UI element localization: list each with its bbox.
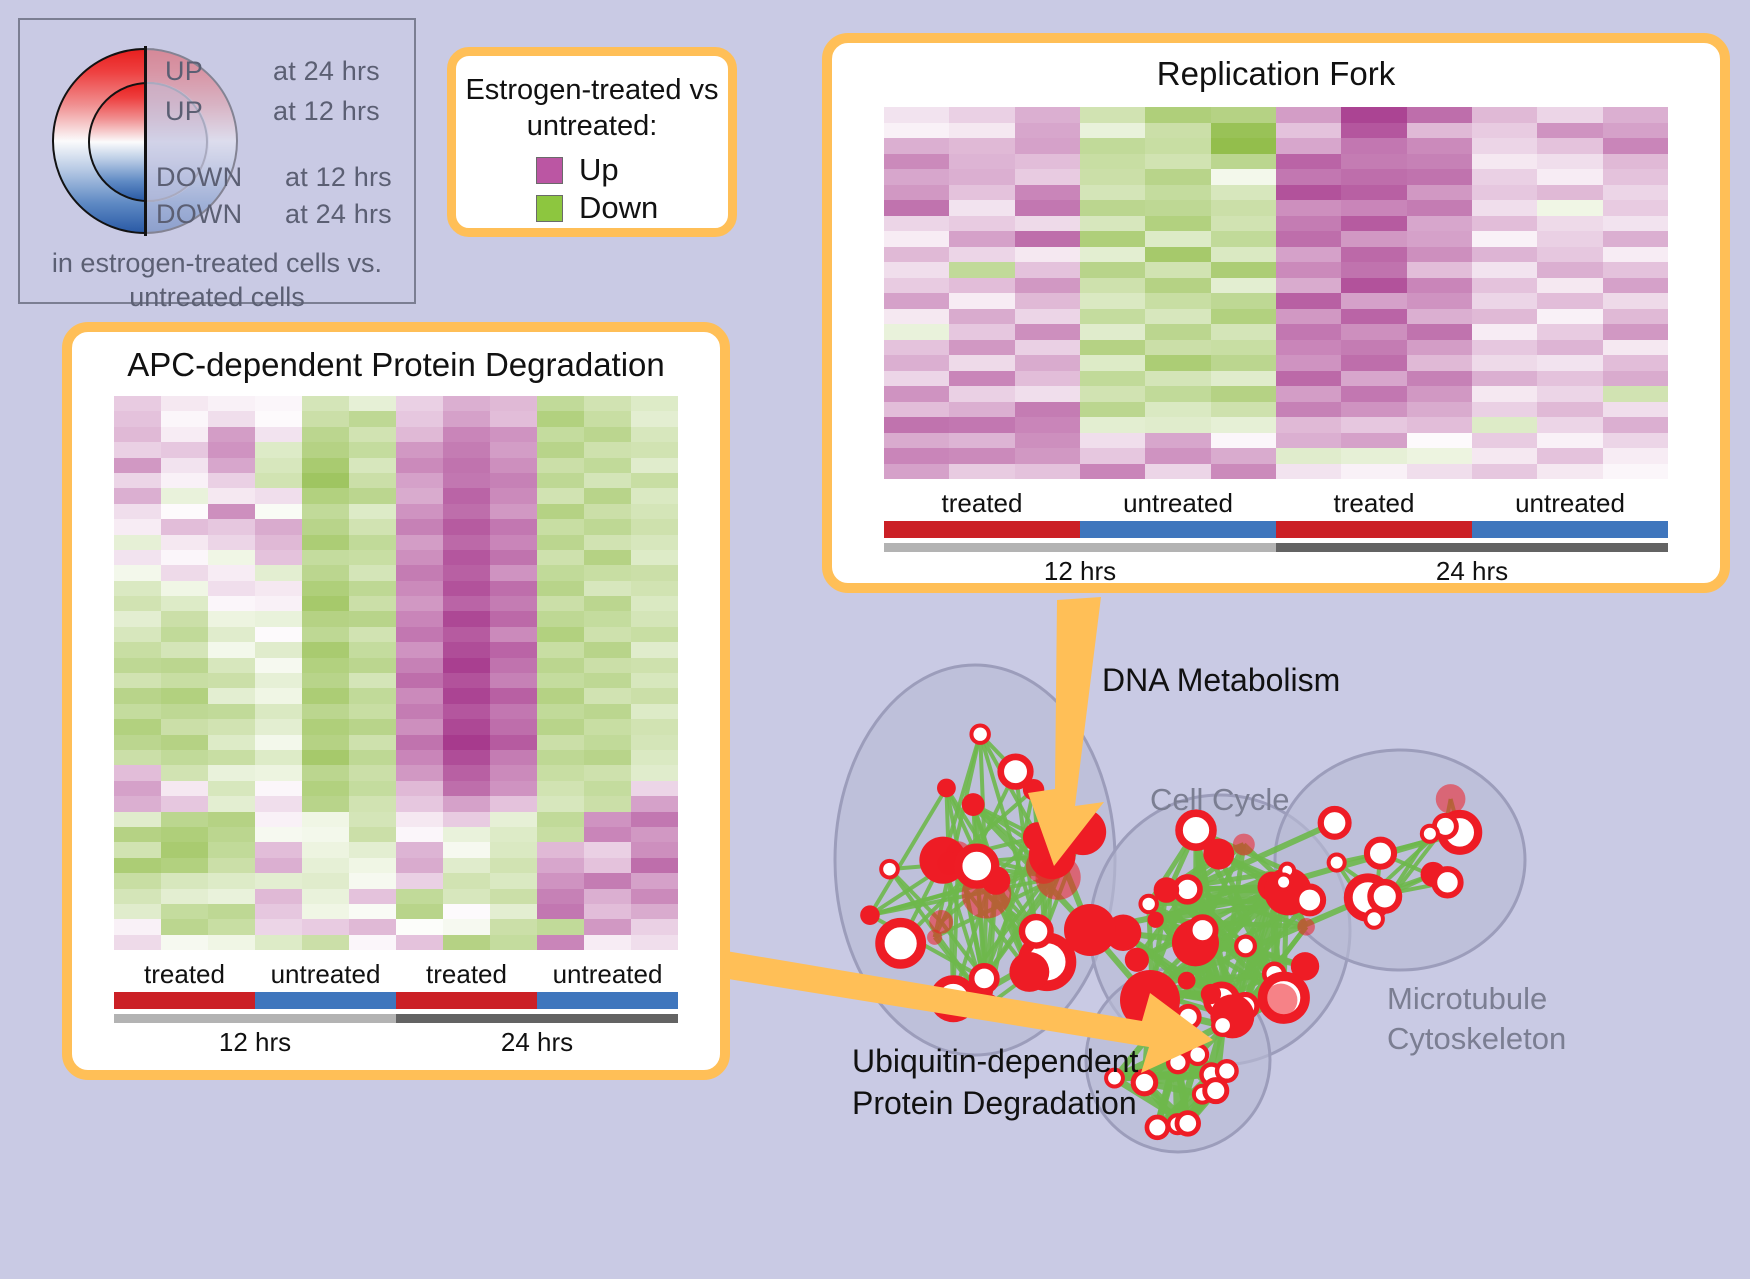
heatmap-cell <box>1537 371 1602 387</box>
heatmap-cell <box>255 550 302 565</box>
heatmap-cell <box>443 889 490 904</box>
heatmap-cell <box>1407 169 1472 185</box>
heatmap-cell <box>161 704 208 719</box>
heatmap-cell <box>949 448 1014 464</box>
network-node <box>1436 784 1466 814</box>
heatmap-cell <box>584 765 631 780</box>
heatmap-cell <box>631 858 678 873</box>
heatmap-cell <box>114 765 161 780</box>
figure-canvas: UP at 24 hrs UP at 12 hrs DOWN at 12 hrs… <box>0 0 1750 1279</box>
heatmap-cell <box>302 658 349 673</box>
heatmap-cell <box>443 565 490 580</box>
treatment-bar-segment-treated <box>1276 521 1472 538</box>
heatmap-cell <box>443 411 490 426</box>
heatmap-cell <box>490 750 537 765</box>
heatmap-cell <box>1080 200 1145 216</box>
network-node <box>881 861 898 878</box>
heatmap-cell <box>490 935 537 950</box>
heatmap-cell <box>884 324 949 340</box>
heatmap-cell <box>1603 355 1668 371</box>
heatmap-cell <box>1145 433 1210 449</box>
heatmap-cell <box>443 611 490 626</box>
heatmap-cell <box>349 642 396 657</box>
heatmap-cell <box>161 750 208 765</box>
heatmap-cell <box>631 427 678 442</box>
heatmap-cell <box>349 442 396 457</box>
ring-divider <box>144 46 147 236</box>
heatmap-cell <box>208 411 255 426</box>
heatmap-cell <box>1015 448 1080 464</box>
heatmap-cell <box>537 396 584 411</box>
heatmap-cell <box>1341 386 1406 402</box>
heatmap-cell <box>584 781 631 796</box>
heatmap-cell <box>1407 278 1472 294</box>
network-node <box>1001 757 1031 787</box>
heatmap-cell <box>114 750 161 765</box>
heatmap-cell <box>161 473 208 488</box>
heatmap-cell <box>161 596 208 611</box>
network-node <box>1329 855 1345 871</box>
up-color-swatch <box>536 157 563 184</box>
heatmap-cell <box>584 704 631 719</box>
heatmap-cell <box>1603 371 1668 387</box>
heatmap-cell <box>537 504 584 519</box>
heatmap-cell <box>537 611 584 626</box>
network-node <box>1236 937 1255 956</box>
updown-legend-card: Estrogen-treated vs untreated: Up Down <box>447 47 737 237</box>
network-node <box>962 793 985 816</box>
heatmap-cell <box>537 812 584 827</box>
heatmap-cell <box>114 858 161 873</box>
heatmap-cell <box>255 812 302 827</box>
network-node <box>1365 910 1383 928</box>
heatmap-cell <box>949 293 1014 309</box>
up-label: Up <box>579 152 619 188</box>
heatmap-cell <box>1145 262 1210 278</box>
heatmap-cell <box>1211 340 1276 356</box>
heatmap-cell <box>884 231 949 247</box>
heatmap-cell <box>302 827 349 842</box>
heatmap-cell <box>396 627 443 642</box>
network-node <box>1120 970 1180 1030</box>
network-node <box>937 779 956 798</box>
heatmap-cell <box>1211 231 1276 247</box>
heatmap-cell <box>1211 247 1276 263</box>
heatmap-cell <box>1080 386 1145 402</box>
heatmap-cell <box>255 719 302 734</box>
heatmap-cell <box>1472 216 1537 232</box>
heatmap-cell <box>949 138 1014 154</box>
heatmap-cell <box>255 596 302 611</box>
heatmap-cell <box>396 827 443 842</box>
heatmap-cell <box>1603 169 1668 185</box>
heatmap-cell <box>1603 293 1668 309</box>
apc-time-bar <box>114 1014 678 1023</box>
heatmap-cell <box>949 262 1014 278</box>
heatmap-cell <box>208 581 255 596</box>
heatmap-cell <box>631 658 678 673</box>
heatmap-cell <box>490 411 537 426</box>
heatmap-cell <box>114 827 161 842</box>
heatmap-cell <box>1145 185 1210 201</box>
heatmap-cell <box>1080 216 1145 232</box>
network-node <box>1177 1113 1199 1135</box>
heatmap-cell <box>584 873 631 888</box>
heatmap-cell <box>302 935 349 950</box>
heatmap-cell <box>349 565 396 580</box>
heatmap-cell <box>396 488 443 503</box>
heatmap-cell <box>208 442 255 457</box>
heatmap-cell <box>396 442 443 457</box>
heatmap-cell <box>208 796 255 811</box>
heatmap-cell <box>537 750 584 765</box>
heatmap-cell <box>161 581 208 596</box>
heatmap-cell <box>208 658 255 673</box>
heatmap-cell <box>1015 154 1080 170</box>
heatmap-cell <box>1537 262 1602 278</box>
heatmap-cell <box>114 519 161 534</box>
replication-time-bar <box>884 543 1668 552</box>
heatmap-cell <box>255 796 302 811</box>
heatmap-cell <box>1015 402 1080 418</box>
heatmap-cell <box>1603 324 1668 340</box>
heatmap-cell <box>396 781 443 796</box>
network-node <box>1213 1016 1232 1035</box>
heatmap-cell <box>349 550 396 565</box>
heatmap-cell <box>490 658 537 673</box>
heatmap-cell <box>1537 464 1602 480</box>
heatmap-cell <box>161 919 208 934</box>
heatmap-cell <box>584 658 631 673</box>
heatmap-cell <box>1080 448 1145 464</box>
heatmap-cell <box>255 627 302 642</box>
heatmap-cell <box>302 458 349 473</box>
heatmap-cell <box>302 919 349 934</box>
heatmap-cell <box>396 550 443 565</box>
heatmap-cell <box>161 873 208 888</box>
heatmap-cell <box>114 658 161 673</box>
heatmap-cell <box>161 396 208 411</box>
heatmap-cell <box>1472 324 1537 340</box>
heatmap-cell <box>114 504 161 519</box>
heatmap-cell <box>631 904 678 919</box>
heatmap-cell <box>1276 371 1341 387</box>
heatmap-cell <box>1276 402 1341 418</box>
heatmap-cell <box>537 827 584 842</box>
heatmap-cell <box>161 812 208 827</box>
heatmap-cell <box>490 873 537 888</box>
heatmap-cell <box>396 396 443 411</box>
heatmap-cell <box>302 781 349 796</box>
heatmap-cell <box>584 796 631 811</box>
heatmap-cell <box>1472 247 1537 263</box>
heatmap-cell <box>1603 309 1668 325</box>
heatmap-cell <box>631 458 678 473</box>
heatmap-cell <box>884 417 949 433</box>
heatmap-cell <box>1537 107 1602 123</box>
heatmap-cell <box>396 458 443 473</box>
heatmap-cell <box>1145 355 1210 371</box>
heatmap-cell <box>255 842 302 857</box>
heatmap-cell <box>537 565 584 580</box>
heatmap-cell <box>1211 448 1276 464</box>
heatmap-cell <box>349 658 396 673</box>
heatmap-cell <box>490 473 537 488</box>
heatmap-cell <box>208 565 255 580</box>
heatmap-cell <box>1407 371 1472 387</box>
heatmap-cell <box>349 873 396 888</box>
heatmap-cell <box>1603 386 1668 402</box>
heatmap-cell <box>631 673 678 688</box>
heatmap-cell <box>1537 216 1602 232</box>
network-node <box>972 966 997 991</box>
heatmap-cell <box>302 535 349 550</box>
heatmap-cell <box>1276 247 1341 263</box>
heatmap-cell <box>1276 448 1341 464</box>
heatmap-cell <box>114 442 161 457</box>
heatmap-cell <box>1537 448 1602 464</box>
legend-up-12-time: at 12 hrs <box>273 96 380 127</box>
heatmap-cell <box>443 873 490 888</box>
heatmap-cell <box>1276 231 1341 247</box>
heatmap-cell <box>1276 200 1341 216</box>
treatment-bar-segment-treated <box>884 521 1080 538</box>
group-label-treated-24: treated <box>1276 488 1472 519</box>
heatmap-cell <box>161 827 208 842</box>
heatmap-cell <box>255 873 302 888</box>
heatmap-cell <box>490 519 537 534</box>
heatmap-cell <box>443 735 490 750</box>
heatmap-cell <box>1080 247 1145 263</box>
heatmap-cell <box>443 858 490 873</box>
heatmap-cell <box>631 750 678 765</box>
heatmap-cell <box>255 396 302 411</box>
heatmap-cell <box>1080 107 1145 123</box>
heatmap-cell <box>1341 324 1406 340</box>
network-diagram: DNA Metabolism Cell Cycle Microtubule Cy… <box>790 600 1750 1279</box>
heatmap-cell <box>1080 123 1145 139</box>
heatmap-cell <box>884 107 949 123</box>
heatmap-cell <box>255 889 302 904</box>
time-bar-segment-12-hrs <box>114 1014 396 1023</box>
heatmap-cell <box>884 355 949 371</box>
heatmap-cell <box>631 396 678 411</box>
treatment-bar-segment-untreated <box>537 992 678 1009</box>
heatmap-cell <box>161 442 208 457</box>
heatmap-cell <box>537 673 584 688</box>
heatmap-cell <box>208 765 255 780</box>
heatmap-cell <box>884 247 949 263</box>
heatmap-cell <box>884 123 949 139</box>
replication-heatmap-wrap: treated untreated treated untreated 12 h… <box>832 107 1720 587</box>
heatmap-cell <box>114 904 161 919</box>
legend-item-down: Down <box>536 190 728 226</box>
heatmap-cell <box>584 735 631 750</box>
heatmap-cell <box>443 796 490 811</box>
heatmap-cell <box>443 519 490 534</box>
heatmap-cell <box>302 504 349 519</box>
heatmap-cell <box>1080 278 1145 294</box>
network-node <box>860 905 880 925</box>
heatmap-cell <box>114 781 161 796</box>
heatmap-cell <box>949 185 1014 201</box>
heatmap-cell <box>1211 371 1276 387</box>
heatmap-cell <box>161 673 208 688</box>
heatmap-cell <box>1211 278 1276 294</box>
heatmap-cell <box>490 535 537 550</box>
heatmap-cell <box>443 658 490 673</box>
heatmap-cell <box>490 812 537 827</box>
heatmap-cell <box>208 458 255 473</box>
time-label-24hrs: 24 hrs <box>396 1027 678 1058</box>
heatmap-cell <box>1537 309 1602 325</box>
heatmap-cell <box>584 812 631 827</box>
heatmap-cell <box>255 919 302 934</box>
heatmap-cell <box>349 627 396 642</box>
panel-replication-fork: Replication Fork treated untreated treat… <box>822 33 1730 593</box>
heatmap-cell <box>884 154 949 170</box>
heatmap-cell <box>490 719 537 734</box>
heatmap-cell <box>1341 355 1406 371</box>
heatmap-cell <box>884 278 949 294</box>
heatmap-cell <box>631 611 678 626</box>
heatmap-cell <box>884 448 949 464</box>
heatmap-cell <box>1145 278 1210 294</box>
heatmap-cell <box>631 550 678 565</box>
network-node <box>1321 809 1349 837</box>
time-bar-segment-12-hrs <box>884 543 1276 552</box>
heatmap-cell <box>1015 169 1080 185</box>
legend-up-24-time: at 24 hrs <box>273 56 380 87</box>
heatmap-cell <box>537 904 584 919</box>
heatmap-cell <box>884 340 949 356</box>
heatmap-cell <box>1341 402 1406 418</box>
heatmap-cell <box>114 873 161 888</box>
heatmap-cell <box>884 293 949 309</box>
heatmap-cell <box>1015 107 1080 123</box>
heatmap-cell <box>1276 293 1341 309</box>
heatmap-cell <box>114 889 161 904</box>
heatmap-cell <box>161 688 208 703</box>
heatmap-cell <box>255 504 302 519</box>
heatmap-cell <box>1145 340 1210 356</box>
heatmap-cell <box>584 519 631 534</box>
heatmap-cell <box>161 458 208 473</box>
heatmap-cell <box>631 627 678 642</box>
heatmap-cell <box>114 550 161 565</box>
heatmap-cell <box>396 919 443 934</box>
heatmap-cell <box>1015 278 1080 294</box>
heatmap-cell <box>584 535 631 550</box>
treatment-bar-segment-treated <box>396 992 537 1009</box>
heatmap-cell <box>208 611 255 626</box>
heatmap-cell <box>631 796 678 811</box>
heatmap-cell <box>1080 309 1145 325</box>
heatmap-cell <box>537 642 584 657</box>
heatmap-cell <box>1472 371 1537 387</box>
heatmap-cell <box>949 417 1014 433</box>
heatmap-cell <box>1537 355 1602 371</box>
heatmap-cell <box>208 812 255 827</box>
heatmap-cell <box>443 765 490 780</box>
heatmap-cell <box>443 688 490 703</box>
heatmap-cell <box>1145 107 1210 123</box>
heatmap-cell <box>1407 324 1472 340</box>
heatmap-cell <box>1211 417 1276 433</box>
heatmap-cell <box>584 627 631 642</box>
heatmap-cell <box>114 796 161 811</box>
heatmap-cell <box>631 596 678 611</box>
heatmap-cell <box>537 858 584 873</box>
heatmap-cell <box>161 411 208 426</box>
heatmap-cell <box>1145 138 1210 154</box>
heatmap-cell <box>490 796 537 811</box>
group-label-treated-24: treated <box>396 959 537 990</box>
heatmap-replication-fork <box>884 107 1668 479</box>
heatmap-cell <box>255 673 302 688</box>
heatmap-cell <box>396 704 443 719</box>
heatmap-cell <box>490 889 537 904</box>
heatmap-cell <box>490 673 537 688</box>
heatmap-cell <box>1145 169 1210 185</box>
heatmap-cell <box>161 550 208 565</box>
heatmap-cell <box>1080 417 1145 433</box>
heatmap-cell <box>302 627 349 642</box>
heatmap-cell <box>631 688 678 703</box>
replication-time-labels: 12 hrs 24 hrs <box>884 556 1668 587</box>
heatmap-cell <box>490 642 537 657</box>
treatment-bar-segment-untreated <box>1080 521 1276 538</box>
network-node <box>971 725 988 742</box>
apc-group-labels: treated untreated treated untreated <box>114 959 678 990</box>
colorbar-caption: in estrogen-treated cells vs. untreated … <box>20 246 414 314</box>
heatmap-cell <box>114 688 161 703</box>
heatmap-cell <box>349 889 396 904</box>
network-node <box>880 923 921 964</box>
heatmap-cell <box>302 519 349 534</box>
heatmap-cell <box>537 627 584 642</box>
heatmap-cell <box>349 812 396 827</box>
heatmap-cell <box>349 458 396 473</box>
heatmap-cell <box>537 535 584 550</box>
heatmap-cell <box>1407 448 1472 464</box>
heatmap-cell <box>114 611 161 626</box>
network-node <box>1064 904 1116 956</box>
heatmap-cell <box>1341 262 1406 278</box>
heatmap-cell <box>255 781 302 796</box>
heatmap-cell <box>208 488 255 503</box>
heatmap-cell <box>1603 231 1668 247</box>
heatmap-cell <box>443 719 490 734</box>
heatmap-cell <box>1472 123 1537 139</box>
heatmap-cell <box>443 642 490 657</box>
heatmap-cell <box>1341 138 1406 154</box>
heatmap-cell <box>396 565 443 580</box>
heatmap-cell <box>396 796 443 811</box>
heatmap-cell <box>114 812 161 827</box>
heatmap-cell <box>349 611 396 626</box>
heatmap-cell <box>1537 169 1602 185</box>
heatmap-cell <box>1472 200 1537 216</box>
heatmap-cell <box>255 642 302 657</box>
heatmap-cell <box>114 719 161 734</box>
heatmap-cell <box>396 812 443 827</box>
heatmap-cell <box>584 688 631 703</box>
heatmap-cell <box>537 781 584 796</box>
heatmap-cell <box>537 473 584 488</box>
heatmap-cell <box>1537 293 1602 309</box>
heatmap-cell <box>537 550 584 565</box>
